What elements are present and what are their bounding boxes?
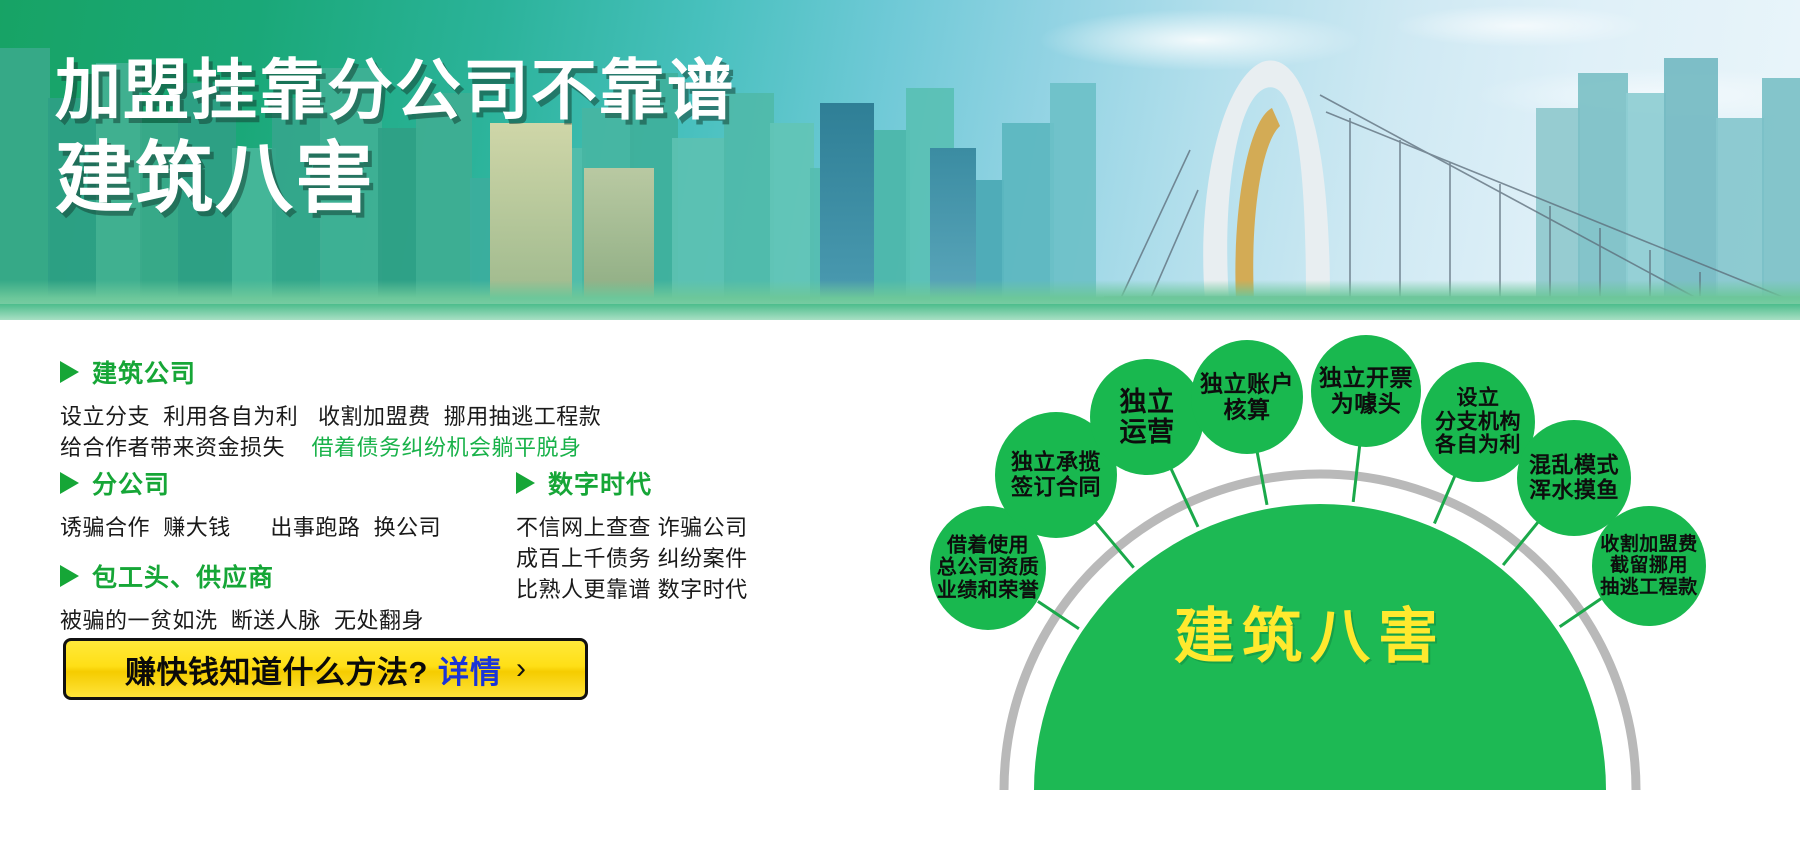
body-span: 设立分支 利用各自为利 收割加盟费 挪用抽逃工程款 [60, 404, 601, 429]
section-title-row: 数字时代 [516, 465, 748, 501]
triangle-bullet-icon [60, 361, 79, 383]
cta-label: 赚快钱知道什么方法? [125, 647, 428, 692]
body-span: 不信网上查查 诈骗公司 [516, 515, 748, 540]
cta-button[interactable]: 赚快钱知道什么方法? 详情 › [63, 638, 588, 700]
triangle-bullet-icon [60, 565, 79, 587]
body-span-highlight: 借着债务纠纷机会躺平脱身 [311, 435, 581, 460]
body-span: 被骗的一贫如洗 断送人脉 无处翻身 [60, 608, 424, 633]
body-line: 成百上千债务 纠纷案件 [516, 543, 748, 574]
body-line: 比熟人更靠谱 数字时代 [516, 574, 748, 605]
body-line: 被骗的一贫如洗 断送人脉 无处翻身 [60, 605, 424, 636]
section-contractor-supplier: 包工头、供应商 被骗的一贫如洗 断送人脉 无处翻身 [60, 558, 424, 636]
body-line: 给合作者带来资金损失 借着债务纠纷机会躺平脱身 [60, 432, 601, 463]
hero-headline: 加盟挂靠分公司不靠谱 建筑八害 [55, 52, 735, 224]
section-branch-company: 分公司 诱骗合作 赚大钱 出事跑路 换公司 [60, 465, 441, 543]
section-title: 分公司 [92, 465, 170, 501]
hero-base-strip [0, 304, 1800, 320]
section-body: 不信网上查查 诈骗公司 成百上千债务 纠纷案件 比熟人更靠谱 数字时代 [516, 512, 748, 605]
section-body: 设立分支 利用各自为利 收割加盟费 挪用抽逃工程款 给合作者带来资金损失 借着债… [60, 401, 601, 463]
cta-link-label[interactable]: 详情 [438, 647, 502, 692]
body-span: 诱骗合作 赚大钱 出事跑路 换公司 [60, 515, 441, 540]
triangle-bullet-icon [516, 472, 535, 494]
section-title: 数字时代 [548, 465, 652, 501]
section-title: 包工头、供应商 [92, 558, 274, 594]
section-title-row: 包工头、供应商 [60, 558, 424, 594]
eight-harms-diagram: 借着使用总公司资质业绩和荣誉独立承揽签订合同独立运营独立账户核算独立开票为噱头设… [820, 320, 1800, 844]
section-title-row: 分公司 [60, 465, 441, 501]
bubble-4[interactable] [1191, 340, 1303, 454]
triangle-bullet-icon [60, 472, 79, 494]
body-line: 不信网上查查 诈骗公司 [516, 512, 748, 543]
body-line: 设立分支 利用各自为利 收割加盟费 挪用抽逃工程款 [60, 401, 601, 432]
section-title-row: 建筑公司 [60, 354, 601, 390]
body-span: 给合作者带来资金损失 [60, 435, 311, 460]
body-span: 成百上千债务 纠纷案件 [516, 546, 748, 571]
dome-title: 建筑八害 [1174, 588, 1446, 675]
section-digital-era: 数字时代 不信网上查查 诈骗公司 成百上千债务 纠纷案件 比熟人更靠谱 数字时代 [516, 465, 748, 605]
left-content-panel: 建筑公司 设立分支 利用各自为利 收割加盟费 挪用抽逃工程款 给合作者带来资金损… [0, 320, 820, 844]
section-construction-company: 建筑公司 设立分支 利用各自为利 收割加盟费 挪用抽逃工程款 给合作者带来资金损… [60, 354, 601, 463]
headline-line-2: 建筑八害 [55, 132, 735, 224]
hero-banner: 加盟挂靠分公司不靠谱 建筑八害 [0, 0, 1800, 320]
section-body: 被骗的一贫如洗 断送人脉 无处翻身 [60, 605, 424, 636]
chevron-right-icon: › [516, 652, 526, 686]
section-body: 诱骗合作 赚大钱 出事跑路 换公司 [60, 512, 441, 543]
headline-line-1: 加盟挂靠分公司不靠谱 [55, 52, 735, 128]
bubble-5[interactable] [1311, 335, 1421, 447]
body-span: 比熟人更靠谱 数字时代 [516, 577, 748, 602]
bubble-3[interactable] [1090, 359, 1204, 475]
section-title: 建筑公司 [92, 354, 196, 390]
body-line: 诱骗合作 赚大钱 出事跑路 换公司 [60, 512, 441, 543]
bubble-8[interactable] [1592, 506, 1706, 626]
